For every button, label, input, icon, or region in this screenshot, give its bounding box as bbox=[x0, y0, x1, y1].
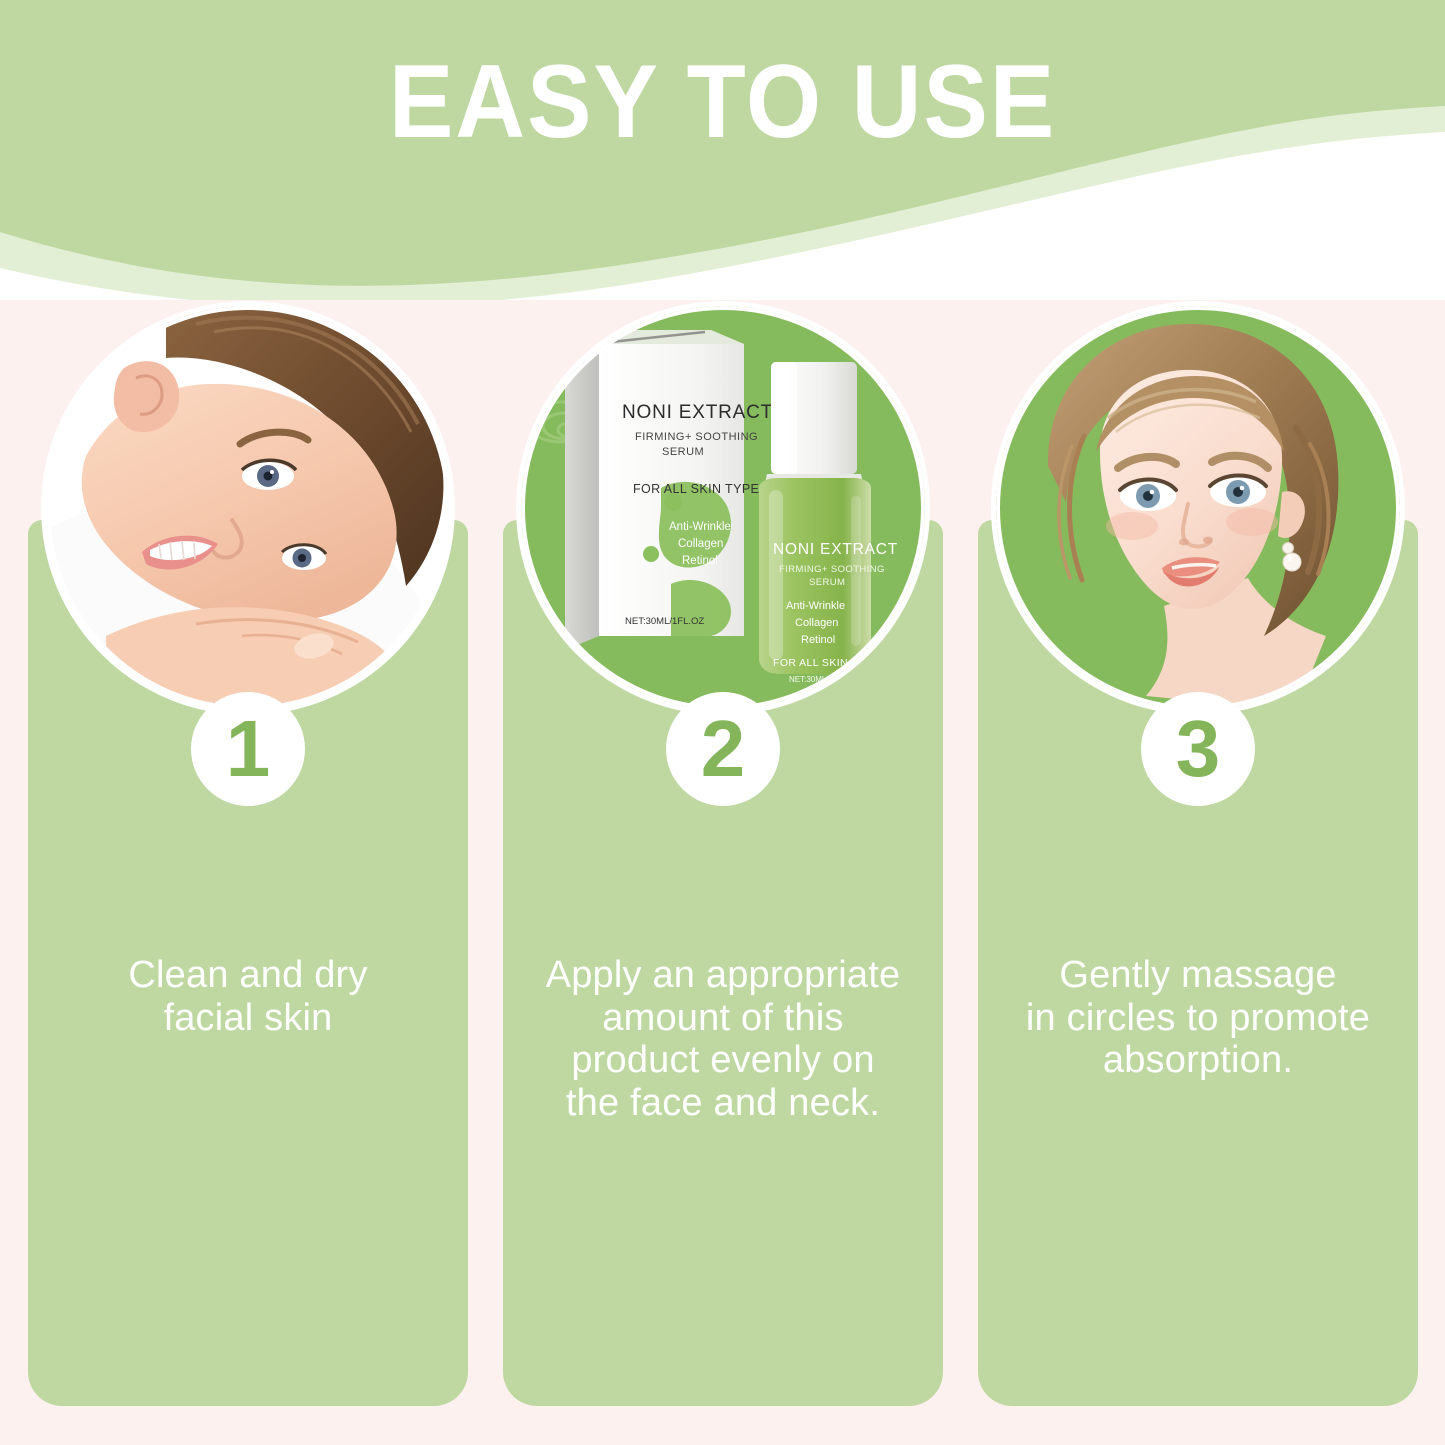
step-number-badge-3: 3 bbox=[1141, 692, 1255, 806]
svg-text:SERUM: SERUM bbox=[809, 577, 845, 588]
svg-text:SERUM: SERUM bbox=[662, 446, 704, 458]
svg-text:Collagen: Collagen bbox=[795, 617, 838, 629]
page-title: EASY TO USE bbox=[51, 50, 1395, 154]
step-number-badge-1: 1 bbox=[191, 692, 305, 806]
infographic-stage: EASY TO USE Clean and dryfacial skin App… bbox=[0, 0, 1445, 1445]
svg-text:NET:30ML/1FL.OZ: NET:30ML/1FL.OZ bbox=[625, 616, 704, 627]
woman-face-portrait-photo bbox=[996, 306, 1400, 710]
svg-text:FIRMING+ SOOTHING: FIRMING+ SOOTHING bbox=[779, 564, 885, 575]
photo-2-graphic: NONI EXTRACT FIRMING+ SOOTHING SERUM FOR… bbox=[521, 306, 925, 710]
step-caption-3: Gently massagein circles to promoteabsor… bbox=[992, 954, 1404, 1082]
svg-text:NONI EXTRACT: NONI EXTRACT bbox=[622, 402, 773, 423]
svg-text:Anti-Wrinkle: Anti-Wrinkle bbox=[669, 521, 731, 533]
svg-text:FIRMING+ SOOTHING: FIRMING+ SOOTHING bbox=[635, 431, 758, 443]
svg-text:FOR ALL SKIN TYPES: FOR ALL SKIN TYPES bbox=[633, 482, 768, 496]
svg-text:NONI EXTRACT: NONI EXTRACT bbox=[773, 541, 898, 558]
product-box-and-bottle-photo: NONI EXTRACT FIRMING+ SOOTHING SERUM FOR… bbox=[521, 306, 925, 710]
svg-text:Retinol: Retinol bbox=[682, 555, 718, 567]
step-caption-1: Clean and dryfacial skin bbox=[42, 954, 454, 1039]
header-banner: EASY TO USE bbox=[0, 0, 1445, 300]
svg-text:Retinol: Retinol bbox=[801, 634, 835, 646]
step-number-badge-2: 2 bbox=[666, 692, 780, 806]
photo-3-graphic bbox=[996, 306, 1400, 710]
woman-resting-head-on-hand-photo bbox=[46, 306, 450, 710]
photo-1-graphic bbox=[46, 306, 450, 710]
svg-text:Anti-Wrinkle: Anti-Wrinkle bbox=[786, 600, 845, 612]
step-caption-2: Apply an appropriateamount of thisproduc… bbox=[517, 954, 929, 1124]
svg-text:Collagen: Collagen bbox=[678, 538, 723, 550]
